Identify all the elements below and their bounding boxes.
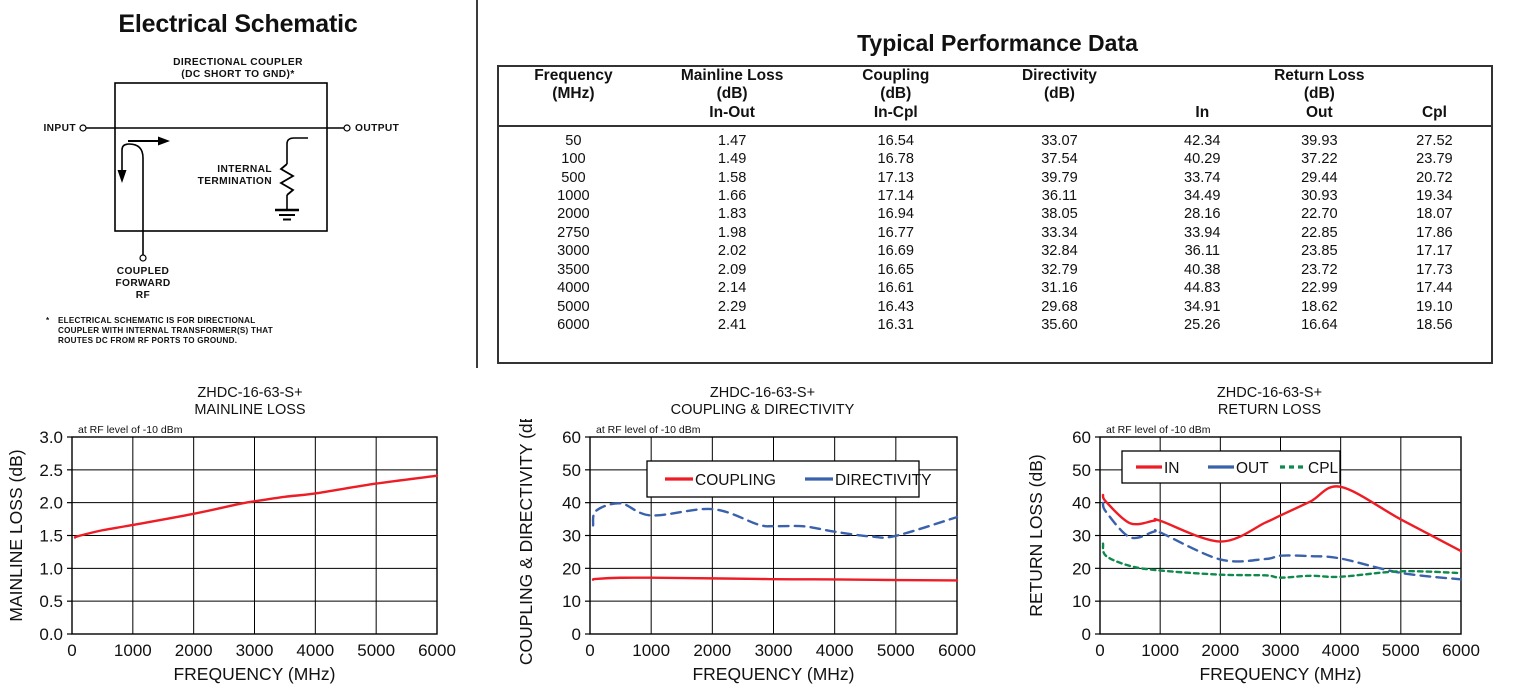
coupled-port-label-line3: RF xyxy=(136,290,150,301)
x-axis-title: FREQUENCY (MHz) xyxy=(692,664,854,684)
table-cell: 16.54 xyxy=(816,126,975,150)
y-axis-tick-label: 60 xyxy=(562,428,581,447)
table-cell: 6000 xyxy=(499,316,648,334)
chart-return-plot: 01020304050600100020003000400050006000FR… xyxy=(1020,419,1519,687)
output-label: OUTPUT xyxy=(355,123,400,134)
x-axis-tick-label: 6000 xyxy=(938,641,976,660)
coupled-port-label-line1: COUPLED xyxy=(117,266,170,277)
table-cell: 23.85 xyxy=(1261,242,1378,260)
table-row: 60002.4116.3135.6025.2616.6418.56 xyxy=(499,316,1491,334)
table-cell: 20.72 xyxy=(1378,169,1491,187)
chart-note: at RF level of -10 dBm xyxy=(596,424,701,436)
schematic-block-label-line2: (DC SHORT TO GND)* xyxy=(181,69,294,80)
table-cell: 17.17 xyxy=(1378,242,1491,260)
x-axis-tick-label: 3000 xyxy=(1262,641,1300,660)
x-axis-tick-label: 0 xyxy=(67,641,76,660)
col-header-rl-cpl-label: Cpl xyxy=(1378,104,1491,122)
table-cell: 17.13 xyxy=(816,169,975,187)
x-axis-tick-label: 6000 xyxy=(1442,641,1480,660)
x-axis-tick-label: 5000 xyxy=(877,641,915,660)
y-axis-tick-label: 10 xyxy=(1072,592,1091,611)
table-cell: 33.94 xyxy=(1144,224,1261,242)
chart-return-title-line2: RETURN LOSS xyxy=(1020,402,1519,419)
table-cell: 1.66 xyxy=(648,187,817,205)
col-header-coupling: Coupling (dB) In-Cpl xyxy=(816,67,975,122)
footnote-line2: COUPLER WITH INTERNAL TRANSFORMER(S) THA… xyxy=(58,326,273,335)
chart-mainline-title: ZHDC-16-63-S+ MAINLINE LOSS xyxy=(0,385,500,419)
table-row: 50002.2916.4329.6834.9118.6219.10 xyxy=(499,298,1491,316)
table-cell: 5000 xyxy=(499,298,648,316)
chart-coupling-directivity: ZHDC-16-63-S+ COUPLING & DIRECTIVITY 010… xyxy=(510,385,1015,690)
y-axis-tick-label: 0 xyxy=(1082,625,1091,644)
y-axis-title: MAINLINE LOSS (dB) xyxy=(6,449,26,621)
table-row: 30002.0216.6932.8436.1123.8517.17 xyxy=(499,242,1491,260)
col-header-mainline-loss: Mainline Loss (dB) In-Out xyxy=(648,67,817,122)
table-cell: 50 xyxy=(499,126,648,150)
y-axis-tick-label: 0.5 xyxy=(39,592,63,611)
footnote-line1: ELECTRICAL SCHEMATIC IS FOR DIRECTIONAL xyxy=(58,316,255,325)
output-port-terminal xyxy=(344,125,350,131)
table-cell: 38.05 xyxy=(975,205,1144,223)
table-cell: 2.14 xyxy=(648,279,817,297)
performance-table: Frequency (MHz) Mainline Loss (dB) In-Ou… xyxy=(499,67,1491,334)
col-header-directivity-l2: (dB) xyxy=(975,85,1144,103)
table-cell: 39.79 xyxy=(975,169,1144,187)
table-row: 10001.6617.1436.1134.4930.9319.34 xyxy=(499,187,1491,205)
table-cell: 35.60 xyxy=(975,316,1144,334)
chart-coupling-title: ZHDC-16-63-S+ COUPLING & DIRECTIVITY xyxy=(510,385,1015,419)
table-cell: 16.64 xyxy=(1261,316,1378,334)
coupled-port-label-line2: FORWARD xyxy=(115,278,170,289)
chart-return-title: ZHDC-16-63-S+ RETURN LOSS xyxy=(1020,385,1519,419)
y-axis-tick-label: 20 xyxy=(1072,559,1091,578)
x-axis-tick-label: 4000 xyxy=(1322,641,1360,660)
table-cell: 3000 xyxy=(499,242,648,260)
chart-note: at RF level of -10 dBm xyxy=(78,424,183,436)
x-axis-tick-label: 6000 xyxy=(418,641,456,660)
footnote-line3: ROUTES DC FROM RF PORTS TO GROUND. xyxy=(58,336,237,345)
electrical-schematic-panel: Electrical Schematic DIRECTIONAL COUPLER… xyxy=(0,0,476,380)
coupled-port-terminal xyxy=(140,255,146,261)
y-axis-tick-label: 40 xyxy=(1072,494,1091,513)
table-cell: 1000 xyxy=(499,187,648,205)
col-header-frequency: Frequency (MHz) xyxy=(499,67,648,122)
legend-label-directivity: DIRECTIVITY xyxy=(835,472,931,489)
table-cell: 29.68 xyxy=(975,298,1144,316)
col-header-rl-out-label: Out xyxy=(1261,104,1378,122)
x-axis-tick-label: 1000 xyxy=(114,641,152,660)
chart-mainline-loss: ZHDC-16-63-S+ MAINLINE LOSS 0.00.51.01.5… xyxy=(0,385,500,690)
col-header-return-loss-cpl: Cpl xyxy=(1378,67,1491,122)
table-cell: 16.61 xyxy=(816,279,975,297)
chart-note: at RF level of -10 dBm xyxy=(1106,424,1211,436)
table-cell: 1.49 xyxy=(648,150,817,168)
forward-arrow-head xyxy=(158,137,170,146)
table-cell: 32.84 xyxy=(975,242,1144,260)
col-header-directivity: Directivity (dB) xyxy=(975,67,1144,122)
y-axis-tick-label: 50 xyxy=(1072,461,1091,480)
table-cell: 17.14 xyxy=(816,187,975,205)
table-cell: 18.62 xyxy=(1261,298,1378,316)
input-port-terminal xyxy=(80,125,86,131)
x-axis-tick-label: 3000 xyxy=(236,641,274,660)
chart-mainline-title-line2: MAINLINE LOSS xyxy=(0,402,500,419)
coupled-arm-curve-left xyxy=(122,144,129,150)
col-header-frequency-l1: Frequency xyxy=(499,67,648,85)
col-header-directivity-l1: Directivity xyxy=(975,67,1144,85)
table-cell: 27.52 xyxy=(1378,126,1491,150)
table-cell: 16.94 xyxy=(816,205,975,223)
y-axis-tick-label: 30 xyxy=(1072,527,1091,546)
x-axis-tick-label: 5000 xyxy=(357,641,395,660)
y-axis-tick-label: 60 xyxy=(1072,428,1091,447)
table-cell: 29.44 xyxy=(1261,169,1378,187)
table-cell: 31.16 xyxy=(975,279,1144,297)
table-cell: 500 xyxy=(499,169,648,187)
y-axis-tick-label: 20 xyxy=(562,559,581,578)
y-axis-title: RETURN LOSS (dB) xyxy=(1026,454,1046,616)
table-cell: 23.79 xyxy=(1378,150,1491,168)
table-cell: 39.93 xyxy=(1261,126,1378,150)
table-cell: 2.41 xyxy=(648,316,817,334)
table-row: 40002.1416.6131.1644.8322.9917.44 xyxy=(499,279,1491,297)
table-cell: 18.56 xyxy=(1378,316,1491,334)
table-cell: 23.72 xyxy=(1261,261,1378,279)
table-cell: 40.38 xyxy=(1144,261,1261,279)
x-axis-tick-label: 2000 xyxy=(693,641,731,660)
col-header-coupling-l2: (dB) xyxy=(816,85,975,103)
col-header-return-loss-in: In xyxy=(1144,67,1261,122)
y-axis-tick-label: 2.0 xyxy=(39,494,63,513)
col-header-return-loss-l2: (dB) xyxy=(1261,85,1378,103)
table-cell: 30.93 xyxy=(1261,187,1378,205)
table-cell: 17.73 xyxy=(1378,261,1491,279)
schematic-drawing: DIRECTIONAL COUPLER (DC SHORT TO GND)* I… xyxy=(0,50,476,380)
performance-data-panel: Typical Performance Data Frequency (MHz)… xyxy=(476,0,1519,380)
table-cell: 33.07 xyxy=(975,126,1144,150)
legend-label-cpl: CPL xyxy=(1308,460,1339,477)
col-header-frequency-l2: (MHz) xyxy=(499,85,648,103)
table-row: 501.4716.5433.0742.3439.9327.52 xyxy=(499,126,1491,150)
chart-return-loss: ZHDC-16-63-S+ RETURN LOSS 01020304050600… xyxy=(1020,385,1519,690)
table-cell: 2.29 xyxy=(648,298,817,316)
table-cell: 1.98 xyxy=(648,224,817,242)
table-cell: 42.34 xyxy=(1144,126,1261,150)
table-cell: 37.54 xyxy=(975,150,1144,168)
col-header-return-loss-l1: Return Loss xyxy=(1261,67,1378,85)
table-cell: 22.85 xyxy=(1261,224,1378,242)
legend-label-in: IN xyxy=(1164,460,1180,477)
y-axis-title: COUPLING & DIRECTIVITY (dB) xyxy=(516,419,536,665)
table-header: Frequency (MHz) Mainline Loss (dB) In-Ou… xyxy=(499,67,1491,126)
table-cell: 22.70 xyxy=(1261,205,1378,223)
chart-mainline-plot: 0.00.51.01.52.02.53.00100020003000400050… xyxy=(0,419,500,687)
x-axis-tick-label: 0 xyxy=(585,641,594,660)
table-cell: 2.02 xyxy=(648,242,817,260)
table-cell: 17.86 xyxy=(1378,224,1491,242)
table-row: 20001.8316.9438.0528.1622.7018.07 xyxy=(499,205,1491,223)
x-axis-tick-label: 2000 xyxy=(1201,641,1239,660)
table-cell: 44.83 xyxy=(1144,279,1261,297)
table-cell: 22.99 xyxy=(1261,279,1378,297)
x-axis-title: FREQUENCY (MHz) xyxy=(173,664,335,684)
coupled-arm-arrow-head xyxy=(118,170,127,183)
table-cell: 17.44 xyxy=(1378,279,1491,297)
legend-label-coupling: COUPLING xyxy=(695,472,776,489)
table-cell: 2000 xyxy=(499,205,648,223)
y-axis-tick-label: 40 xyxy=(562,494,581,513)
table-cell: 33.74 xyxy=(1144,169,1261,187)
x-axis-tick-label: 4000 xyxy=(296,641,334,660)
table-cell: 1.47 xyxy=(648,126,817,150)
y-axis-tick-label: 50 xyxy=(562,461,581,480)
table-row: 27501.9816.7733.3433.9422.8517.86 xyxy=(499,224,1491,242)
x-axis-tick-label: 5000 xyxy=(1382,641,1420,660)
chart-coupling-title-line2: COUPLING & DIRECTIVITY xyxy=(510,402,1015,419)
table-cell: 34.91 xyxy=(1144,298,1261,316)
table-body: 501.4716.5433.0742.3439.9327.521001.4916… xyxy=(499,126,1491,334)
col-header-mainline-l3: In-Out xyxy=(648,104,817,122)
table-cell: 1.83 xyxy=(648,205,817,223)
termination-resistor-symbol xyxy=(281,164,293,195)
table-cell: 40.29 xyxy=(1144,150,1261,168)
y-axis-tick-label: 3.0 xyxy=(39,428,63,447)
x-axis-tick-label: 1000 xyxy=(1141,641,1179,660)
x-axis-tick-label: 4000 xyxy=(816,641,854,660)
table-cell: 37.22 xyxy=(1261,150,1378,168)
x-axis-tick-label: 2000 xyxy=(175,641,213,660)
table-cell: 1.58 xyxy=(648,169,817,187)
table-row: 35002.0916.6532.7940.3823.7217.73 xyxy=(499,261,1491,279)
internal-termination-label-line2: TERMINATION xyxy=(198,176,272,187)
y-axis-tick-label: 0 xyxy=(572,625,581,644)
coupled-arm-curve-right xyxy=(129,144,143,158)
y-axis-tick-label: 30 xyxy=(562,527,581,546)
table-row: 1001.4916.7837.5440.2937.2223.79 xyxy=(499,150,1491,168)
x-axis-tick-label: 3000 xyxy=(755,641,793,660)
table-cell: 16.43 xyxy=(816,298,975,316)
chart-mainline-title-line1: ZHDC-16-63-S+ xyxy=(0,385,500,402)
col-header-return-loss-out: Return Loss (dB) Out xyxy=(1261,67,1378,122)
performance-table-container: Frequency (MHz) Mainline Loss (dB) In-Ou… xyxy=(497,65,1493,364)
chart-coupling-title-line1: ZHDC-16-63-S+ xyxy=(510,385,1015,402)
internal-termination-label-line1: INTERNAL xyxy=(217,164,272,175)
table-cell: 16.77 xyxy=(816,224,975,242)
table-cell: 25.26 xyxy=(1144,316,1261,334)
x-axis-tick-label: 1000 xyxy=(632,641,670,660)
table-cell: 19.34 xyxy=(1378,187,1491,205)
x-axis-tick-label: 0 xyxy=(1095,641,1104,660)
schematic-title: Electrical Schematic xyxy=(0,10,476,39)
y-axis-tick-label: 0.0 xyxy=(39,625,63,644)
col-header-mainline-l2: (dB) xyxy=(648,85,817,103)
table-cell: 36.11 xyxy=(1144,242,1261,260)
table-cell: 16.65 xyxy=(816,261,975,279)
table-cell: 3500 xyxy=(499,261,648,279)
termination-tap-curve xyxy=(287,138,308,144)
table-cell: 33.34 xyxy=(975,224,1144,242)
table-cell: 16.31 xyxy=(816,316,975,334)
chart-coupling-plot: 01020304050600100020003000400050006000FR… xyxy=(510,419,1015,687)
table-cell: 2.09 xyxy=(648,261,817,279)
col-header-coupling-l3: In-Cpl xyxy=(816,104,975,122)
chart-return-title-line1: ZHDC-16-63-S+ xyxy=(1020,385,1519,402)
table-cell: 36.11 xyxy=(975,187,1144,205)
table-cell: 2750 xyxy=(499,224,648,242)
footnote-marker: * xyxy=(46,316,50,325)
table-cell: 34.49 xyxy=(1144,187,1261,205)
table-cell: 16.69 xyxy=(816,242,975,260)
table-cell: 16.78 xyxy=(816,150,975,168)
table-title: Typical Performance Data xyxy=(476,30,1519,57)
table-cell: 18.07 xyxy=(1378,205,1491,223)
y-axis-tick-label: 2.5 xyxy=(39,461,63,480)
col-header-mainline-l1: Mainline Loss xyxy=(648,67,817,85)
legend-label-out: OUT xyxy=(1236,460,1269,477)
table-cell: 4000 xyxy=(499,279,648,297)
input-label: INPUT xyxy=(43,123,76,134)
y-axis-tick-label: 1.0 xyxy=(39,559,63,578)
col-header-rl-in-label: In xyxy=(1144,104,1261,122)
y-axis-tick-label: 10 xyxy=(562,592,581,611)
col-header-coupling-l1: Coupling xyxy=(816,67,975,85)
table-cell: 19.10 xyxy=(1378,298,1491,316)
table-cell: 28.16 xyxy=(1144,205,1261,223)
y-axis-tick-label: 1.5 xyxy=(39,527,63,546)
schematic-block-label-line1: DIRECTIONAL COUPLER xyxy=(173,57,303,68)
table-cell: 100 xyxy=(499,150,648,168)
x-axis-title: FREQUENCY (MHz) xyxy=(1199,664,1361,684)
table-row: 5001.5817.1339.7933.7429.4420.72 xyxy=(499,169,1491,187)
table-cell: 32.79 xyxy=(975,261,1144,279)
